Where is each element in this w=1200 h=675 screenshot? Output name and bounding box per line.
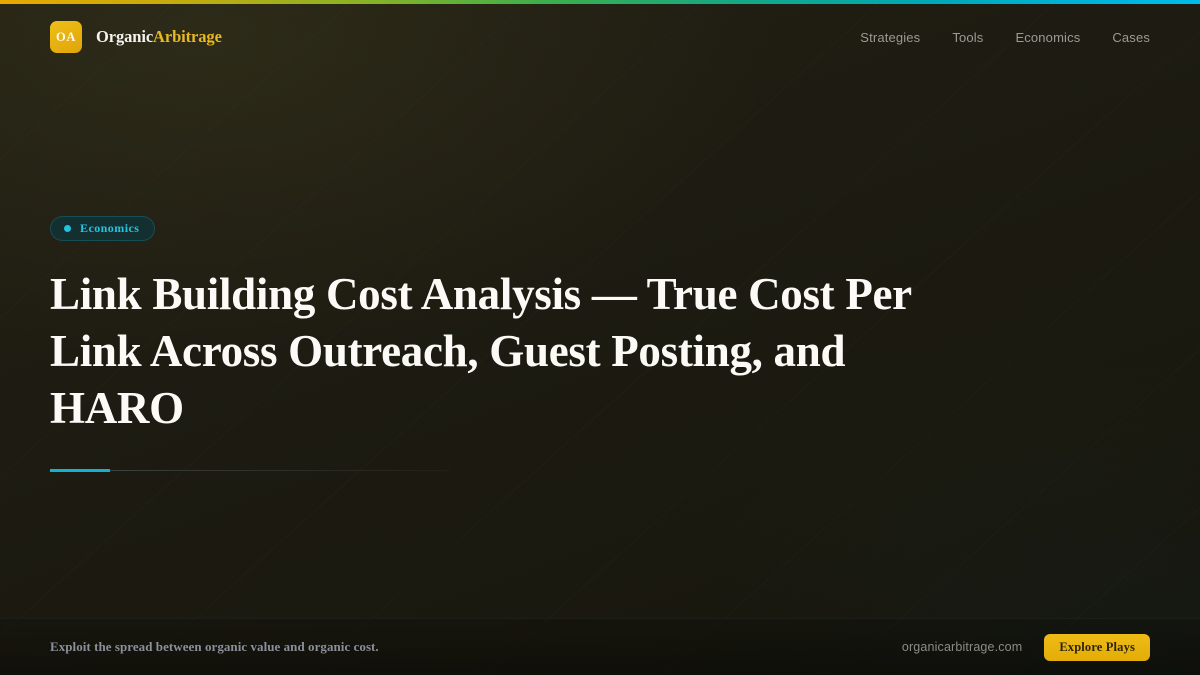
footer-tagline: Exploit the spread between organic value… xyxy=(50,639,379,655)
footer-domain: organicarbitrage.com xyxy=(902,640,1022,654)
page-title: Link Building Cost Analysis — True Cost … xyxy=(50,266,980,437)
hero-section: Economics Link Building Cost Analysis — … xyxy=(0,70,1200,618)
title-divider-accent xyxy=(50,469,110,472)
category-badge-label: Economics xyxy=(80,221,139,236)
site-header: OA OrganicArbitrage Strategies Tools Eco… xyxy=(0,4,1200,70)
brand-logo[interactable]: OA OrganicArbitrage xyxy=(50,21,222,53)
nav-item-cases[interactable]: Cases xyxy=(1112,30,1150,45)
footer-actions: organicarbitrage.com Explore Plays xyxy=(902,634,1150,661)
brand-wordmark-part1: Organic xyxy=(96,27,153,46)
brand-monogram-icon: OA xyxy=(50,21,82,53)
explore-plays-button[interactable]: Explore Plays xyxy=(1044,634,1150,661)
dot-icon xyxy=(64,225,71,232)
title-divider xyxy=(50,469,450,472)
title-divider-line xyxy=(50,470,450,471)
primary-nav: Strategies Tools Economics Cases xyxy=(860,30,1150,45)
nav-item-strategies[interactable]: Strategies xyxy=(860,30,920,45)
brand-wordmark: OrganicArbitrage xyxy=(96,27,222,47)
category-badge[interactable]: Economics xyxy=(50,216,155,241)
nav-item-tools[interactable]: Tools xyxy=(952,30,983,45)
site-footer: Exploit the spread between organic value… xyxy=(0,618,1200,675)
nav-item-economics[interactable]: Economics xyxy=(1015,30,1080,45)
page-root: OA OrganicArbitrage Strategies Tools Eco… xyxy=(0,0,1200,675)
brand-monogram-text: OA xyxy=(56,30,76,45)
brand-wordmark-part2: Arbitrage xyxy=(153,27,222,46)
gradient-accent-bar xyxy=(0,0,1200,4)
